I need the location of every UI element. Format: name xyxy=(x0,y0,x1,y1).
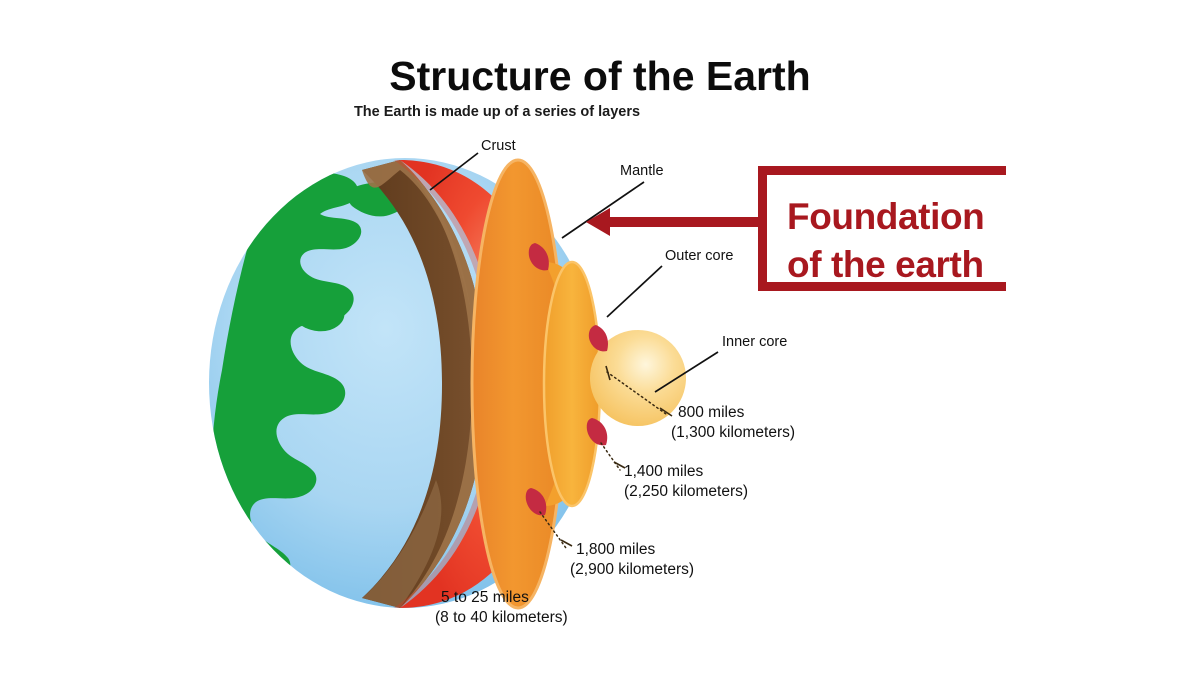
measurement-kilometers: (2,250 kilometers) xyxy=(624,483,748,500)
measurement-mantle: 1,800 miles (2,900 kilometers) xyxy=(570,541,694,578)
measurement-miles: 800 miles xyxy=(678,404,745,421)
callout-arrow-head xyxy=(586,208,610,236)
callout-top-bar xyxy=(758,166,1006,175)
measurement-miles: 1,400 miles xyxy=(624,463,704,480)
measurement-kilometers: (2,900 kilometers) xyxy=(570,561,694,578)
measurement-miles: 5 to 25 miles xyxy=(441,589,529,606)
leader-line-outer-core xyxy=(607,266,662,317)
page-title: Structure of the Earth xyxy=(389,53,810,99)
callout-line-1: Foundation xyxy=(787,196,984,237)
label-inner-core: Inner core xyxy=(722,334,787,350)
measurement-inner-core: 800 miles (1,300 kilometers) xyxy=(671,404,795,441)
measurement-kilometers: (8 to 40 kilometers) xyxy=(435,609,568,626)
callout-left-bar xyxy=(758,166,767,291)
page-subtitle: The Earth is made up of a series of laye… xyxy=(354,104,640,120)
measurement-outer-core: 1,400 miles (2,250 kilometers) xyxy=(624,463,748,500)
radius-dotline-outer-core xyxy=(601,443,620,470)
slide-canvas: Structure of the Earth The Earth is made… xyxy=(0,0,1200,675)
callout-arrow-shaft xyxy=(600,217,760,227)
label-mantle: Mantle xyxy=(620,163,664,179)
label-crust: Crust xyxy=(481,138,516,154)
earth-structure-illustration: Structure of the Earth The Earth is made… xyxy=(0,0,1200,675)
callout-line-2: of the earth xyxy=(787,244,984,285)
measurement-crust: 5 to 25 miles (8 to 40 kilometers) xyxy=(435,589,568,626)
measurement-kilometers: (1,300 kilometers) xyxy=(671,424,795,441)
label-outer-core: Outer core xyxy=(665,248,734,264)
measurement-miles: 1,800 miles xyxy=(576,541,656,558)
